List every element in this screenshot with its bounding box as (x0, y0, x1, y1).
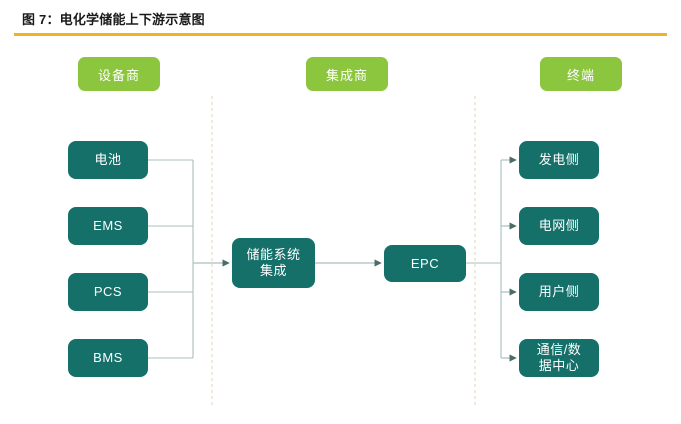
flow-diagram: 设备商 集成商 终端 电池 EMS PCS BMS 储能系统 集成 EPC 发电… (0, 38, 681, 424)
stage-header-midstream: 集成商 (306, 57, 388, 91)
node-ess-line2: 集成 (246, 263, 300, 279)
node-generation-side: 发电侧 (519, 141, 599, 179)
node-epc: EPC (384, 245, 466, 282)
node-pcs: PCS (68, 273, 148, 311)
title-underline-rule (14, 33, 667, 36)
node-energy-storage-system-integration: 储能系统 集成 (232, 238, 315, 288)
downstream-connectors (466, 160, 501, 358)
figure-title: 图 7：电化学储能上下游示意图 (22, 9, 205, 28)
node-comm-line2: 据中心 (537, 358, 582, 374)
node-grid-side: 电网侧 (519, 207, 599, 245)
stage-header-downstream: 终端 (540, 57, 622, 91)
upstream-connectors (148, 160, 193, 358)
node-communication-data-center: 通信/数 据中心 (519, 339, 599, 377)
node-ems: EMS (68, 207, 148, 245)
node-user-side: 用户侧 (519, 273, 599, 311)
node-ess-line1: 储能系统 (246, 247, 300, 263)
node-battery: 电池 (68, 141, 148, 179)
stage-header-upstream: 设备商 (78, 57, 160, 91)
downstream-arrows (501, 160, 516, 358)
node-bms: BMS (68, 339, 148, 377)
node-comm-line1: 通信/数 (537, 342, 582, 358)
